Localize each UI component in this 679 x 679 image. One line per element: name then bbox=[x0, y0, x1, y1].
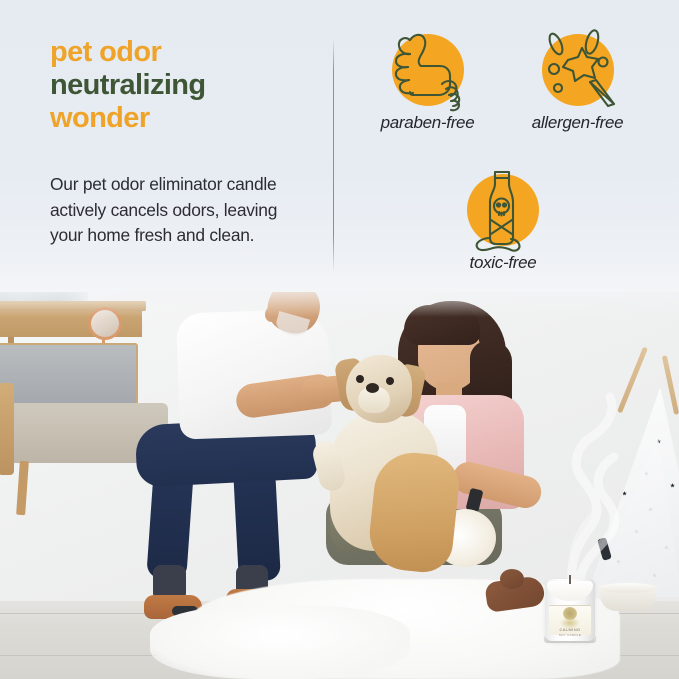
smoke-wisp bbox=[520, 353, 670, 585]
description-text: Our pet odor eliminator candle actively … bbox=[50, 172, 312, 249]
headline-line-3: wonder bbox=[50, 102, 320, 135]
vertical-divider bbox=[333, 38, 334, 272]
headline-line-2: neutralizing bbox=[50, 69, 320, 102]
poison-bottle-icon bbox=[455, 164, 551, 260]
dog-eye bbox=[356, 375, 364, 383]
product-banner: pet odor neutralizing wonder Our pet odo… bbox=[0, 0, 679, 679]
headline-line-1: pet odor bbox=[50, 36, 320, 69]
dog-nose bbox=[366, 383, 379, 393]
candle-wick bbox=[569, 575, 571, 584]
candle-brand-text: CALMING bbox=[549, 627, 591, 632]
candle-subtitle-text: SOY CANDLE bbox=[549, 633, 591, 637]
dog-eye bbox=[386, 377, 394, 385]
info-panel: pet odor neutralizing wonder Our pet odo… bbox=[0, 0, 679, 292]
lifestyle-photo: CALMING SOY CANDLE bbox=[0, 283, 679, 679]
badge-disc bbox=[467, 174, 539, 246]
badge-label: allergen-free bbox=[495, 113, 660, 133]
armchair-backrest bbox=[0, 343, 138, 407]
badge-paraben-free: paraben-free bbox=[355, 34, 500, 133]
claims-badge-group: paraben-free bbox=[345, 22, 675, 282]
badge-label: paraben-free bbox=[355, 113, 500, 133]
thumbs-up-icon bbox=[380, 24, 476, 116]
shag-rug bbox=[150, 605, 410, 679]
badge-disc bbox=[392, 34, 464, 106]
armchair-armrest bbox=[0, 383, 14, 475]
badge-toxic-free: toxic-free bbox=[423, 174, 583, 273]
badge-disc bbox=[542, 34, 614, 106]
badge-allergen-free: allergen-free bbox=[495, 34, 660, 133]
page-title: pet odor neutralizing wonder bbox=[50, 36, 320, 135]
splatter-icon bbox=[530, 24, 626, 116]
